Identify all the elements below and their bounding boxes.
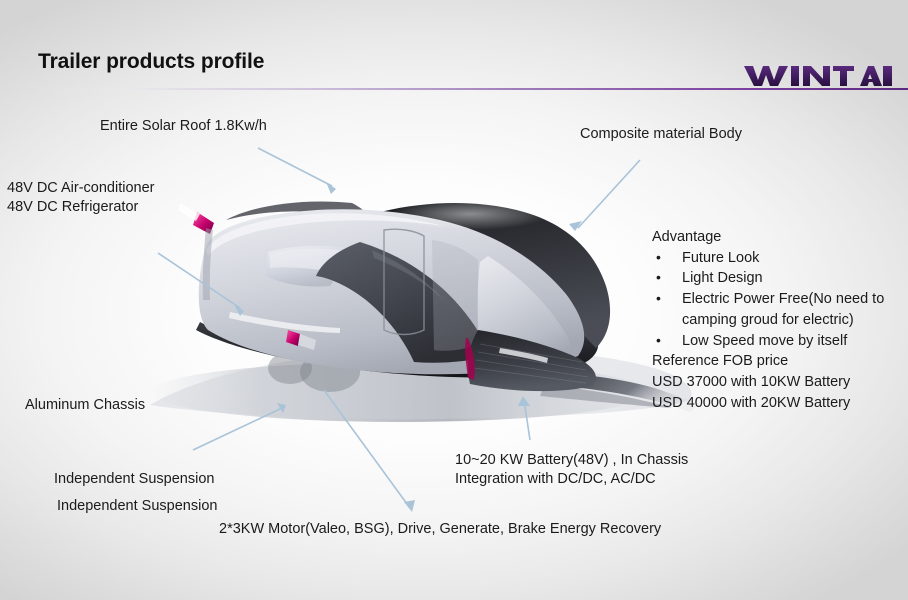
advantage-item-light-design: • Light Design <box>652 268 902 289</box>
callout-hvac: 48V DC Air-conditioner 48V DC Refrigerat… <box>7 179 155 217</box>
advantage-item-label: Future Look <box>682 250 759 266</box>
callout-battery: 10~20 KW Battery(48V) , In Chassis Integ… <box>455 451 688 489</box>
advantage-item-electric-continuation: camping groud for electric) <box>652 310 902 331</box>
advantage-list: • Future Look • Light Design • Electric … <box>652 248 902 310</box>
callout-aluminum-chassis: Aluminum Chassis <box>25 396 145 415</box>
price-option-10kw: USD 37000 with 10KW Battery <box>652 372 902 393</box>
advantage-heading: Advantage <box>652 227 902 248</box>
callout-composite-body: Composite material Body <box>580 125 742 144</box>
bullet-icon: • <box>656 247 661 267</box>
advantage-item-label: Light Design <box>682 270 763 286</box>
advantage-list-2: • Low Speed move by itself <box>652 331 902 352</box>
advantage-item-electric-power-free: • Electric Power Free(No need to <box>652 289 902 310</box>
callout-suspension-2: Independent Suspension <box>57 497 217 516</box>
callout-suspension-1: Independent Suspension <box>54 470 214 489</box>
advantage-item-low-speed: • Low Speed move by itself <box>652 331 902 352</box>
wintao-logo <box>742 62 892 88</box>
callout-battery-line1: 10~20 KW Battery(48V) , In Chassis <box>455 451 688 470</box>
advantage-item-future-look: • Future Look <box>652 248 902 269</box>
bullet-icon: • <box>656 267 661 287</box>
header-divider <box>0 88 908 90</box>
page-title: Trailer products profile <box>38 50 264 74</box>
bullet-icon: • <box>656 288 661 308</box>
advantage-item-label: Electric Power Free(No need to <box>682 291 884 307</box>
callout-solar-roof: Entire Solar Roof 1.8Kw/h <box>100 117 267 136</box>
callout-air-conditioner: 48V DC Air-conditioner <box>7 179 155 198</box>
advantage-block: Advantage • Future Look • Light Design •… <box>652 227 902 414</box>
bullet-icon: • <box>656 330 661 350</box>
price-heading: Reference FOB price <box>652 351 902 372</box>
callout-battery-line2: Integration with DC/DC, AC/DC <box>455 470 688 489</box>
callout-refrigerator: 48V DC Refrigerator <box>7 198 155 217</box>
slide-canvas: Trailer products profile Entire Solar R <box>0 0 908 600</box>
callout-motor: 2*3KW Motor(Valeo, BSG), Drive, Generate… <box>219 520 661 539</box>
price-option-20kw: USD 40000 with 20KW Battery <box>652 393 902 414</box>
advantage-item-label: Low Speed move by itself <box>682 333 847 349</box>
